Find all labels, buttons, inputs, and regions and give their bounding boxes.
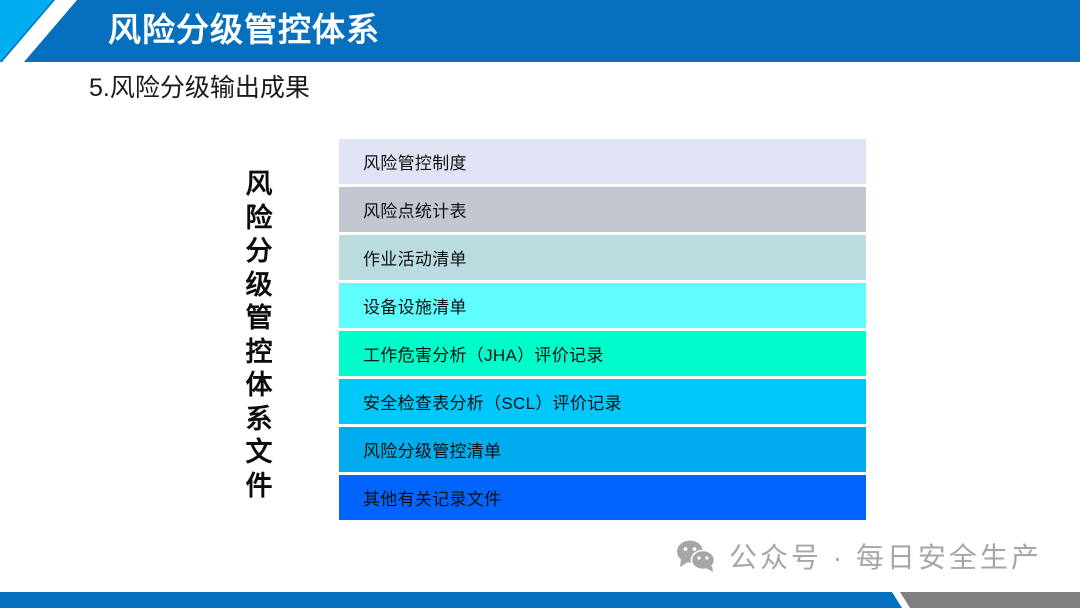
list-item-label: 安全检查表分析（SCL）评价记录 — [339, 389, 622, 414]
section-subtitle: 5.风险分级输出成果 — [89, 70, 310, 106]
list-item-label: 工作危害分析（JHA）评价记录 — [339, 341, 604, 366]
side-label-char: 级 — [238, 269, 280, 303]
watermark: 公众号 · 每日安全生产 — [676, 536, 1042, 576]
list-item-label: 作业活动清单 — [339, 245, 467, 270]
page-title: 风险分级管控体系 — [108, 6, 380, 54]
slide-header: 风险分级管控体系 — [0, 0, 1080, 62]
side-label-char: 控 — [238, 336, 280, 370]
wechat-icon — [676, 539, 716, 573]
document-list: 风险管控制度 风险点统计表 作业活动清单 设备设施清单 工作危害分析（JHA）评… — [339, 139, 866, 523]
watermark-text: 公众号 · 每日安全生产 — [729, 536, 1042, 576]
list-item-label: 设备设施清单 — [339, 293, 467, 318]
list-item[interactable]: 风险点统计表 — [339, 187, 866, 232]
vertical-category-label: 风 险 分 级 管 控 体 系 文 件 — [238, 168, 280, 503]
list-item[interactable]: 工作危害分析（JHA）评价记录 — [339, 331, 866, 376]
list-item-label: 其他有关记录文件 — [339, 485, 501, 510]
side-label-char: 风 — [238, 168, 280, 202]
list-item-label: 风险点统计表 — [339, 197, 467, 222]
side-label-char: 文 — [238, 436, 280, 470]
side-label-char: 系 — [238, 403, 280, 437]
side-label-char: 险 — [238, 202, 280, 236]
list-item[interactable]: 风险分级管控清单 — [339, 427, 866, 472]
side-label-char: 分 — [238, 235, 280, 269]
side-label-char: 体 — [238, 369, 280, 403]
slide-footer — [0, 592, 1080, 608]
list-item[interactable]: 安全检查表分析（SCL）评价记录 — [339, 379, 866, 424]
list-item-label: 风险管控制度 — [339, 149, 467, 174]
list-item-label: 风险分级管控清单 — [339, 437, 501, 462]
list-item[interactable]: 风险管控制度 — [339, 139, 866, 184]
footer-blue-bar — [0, 592, 910, 608]
list-item[interactable]: 其他有关记录文件 — [339, 475, 866, 520]
list-item[interactable]: 作业活动清单 — [339, 235, 866, 280]
side-label-char: 件 — [238, 470, 280, 504]
list-item[interactable]: 设备设施清单 — [339, 283, 866, 328]
side-label-char: 管 — [238, 302, 280, 336]
